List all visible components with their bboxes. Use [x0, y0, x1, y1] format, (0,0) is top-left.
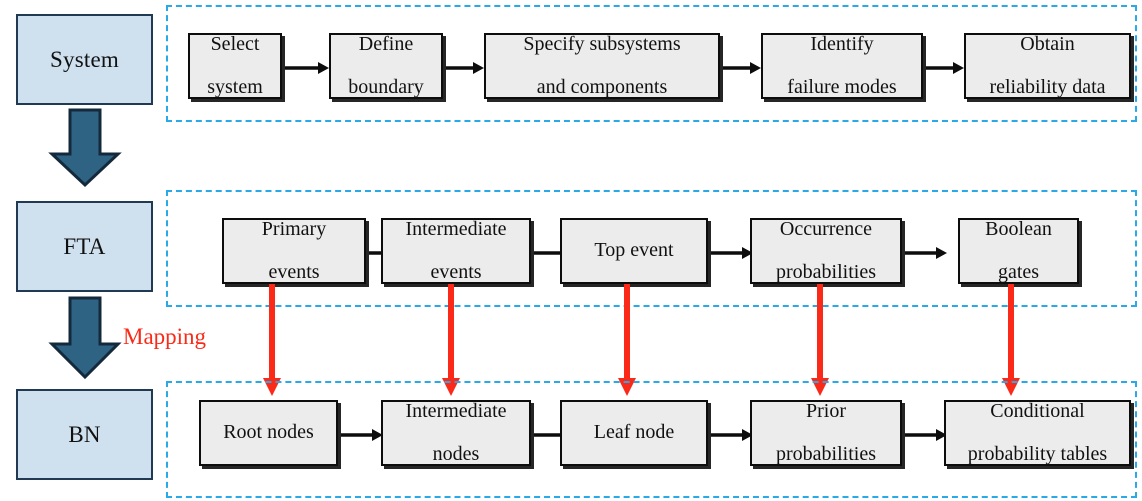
process-box-intermediate-nodes: Intermediate nodes [381, 400, 531, 466]
box-line: probability tables [968, 444, 1107, 466]
process-box-obtain-reliability-data: Obtain reliability data [964, 33, 1131, 99]
connector-arrow [285, 61, 329, 75]
box-line: Define [348, 34, 424, 56]
box-line: Prior [776, 401, 876, 423]
process-box-select-system: Select system [188, 33, 282, 99]
stage-label-system: System [50, 47, 119, 73]
box-line: Conditional [968, 401, 1107, 423]
box-line: Primary [262, 219, 326, 241]
process-box-occurrence-probabilities: Occurrence probabilities [750, 218, 902, 284]
box-line: and components [523, 77, 680, 99]
connector-arrow [341, 428, 383, 442]
process-box-boolean-gates: Boolean gates [958, 218, 1079, 284]
box-line: probabilities [776, 444, 876, 466]
box-line: events [405, 262, 506, 284]
box-line: system [207, 77, 263, 99]
connector-arrow [711, 428, 753, 442]
box-line: events [262, 262, 326, 284]
stage-arrow-system-to-fta [46, 108, 124, 188]
box-line: Occurrence [776, 219, 876, 241]
connector-arrow [446, 61, 484, 75]
process-box-identify-failure-modes: Identify failure modes [761, 33, 923, 99]
box-line: probabilities [776, 262, 876, 284]
process-box-specify-subsystems: Specify subsystems and components [484, 33, 720, 99]
process-box-top-event: Top event [560, 218, 708, 284]
connector-arrow [711, 246, 753, 260]
box-line: Boolean [985, 219, 1052, 241]
box-line: failure modes [787, 77, 896, 99]
box-line: gates [985, 262, 1052, 284]
box-line: reliability data [989, 77, 1105, 99]
box-line: Identify [787, 34, 896, 56]
box-line: nodes [405, 444, 506, 466]
box-line: Obtain [989, 34, 1105, 56]
connector-arrow [905, 246, 947, 260]
mapping-label: Mapping [123, 324, 206, 350]
process-box-root-nodes: Root nodes [199, 400, 338, 466]
box-line: Top event [594, 240, 673, 262]
box-line: Select [207, 34, 263, 56]
process-box-leaf-node: Leaf node [560, 400, 708, 466]
process-box-prior-probabilities: Prior probabilities [750, 400, 902, 466]
stage-box-system: System [16, 14, 153, 105]
process-box-define-boundary: Define boundary [329, 33, 443, 99]
stage-box-fta: FTA [16, 201, 153, 292]
box-line: Root nodes [223, 422, 314, 444]
stage-label-bn: BN [68, 422, 100, 448]
connector-arrow [926, 61, 964, 75]
stage-box-bn: BN [16, 389, 153, 480]
box-line: Leaf node [594, 422, 675, 444]
diagram-canvas: System FTA BN Mapping Select system Defi… [0, 0, 1142, 501]
process-box-intermediate-events: Intermediate events [381, 218, 531, 284]
box-line: Specify subsystems [523, 34, 680, 56]
box-line: Intermediate [405, 401, 506, 423]
stage-arrow-fta-to-bn [46, 296, 124, 380]
stage-label-fta: FTA [63, 234, 105, 260]
process-box-primary-events: Primary events [222, 218, 366, 284]
box-line: Intermediate [405, 219, 506, 241]
connector-arrow [723, 61, 761, 75]
process-box-conditional-probability-tables: Conditional probability tables [944, 400, 1131, 466]
box-line: boundary [348, 77, 424, 99]
connector-arrow [905, 428, 947, 442]
